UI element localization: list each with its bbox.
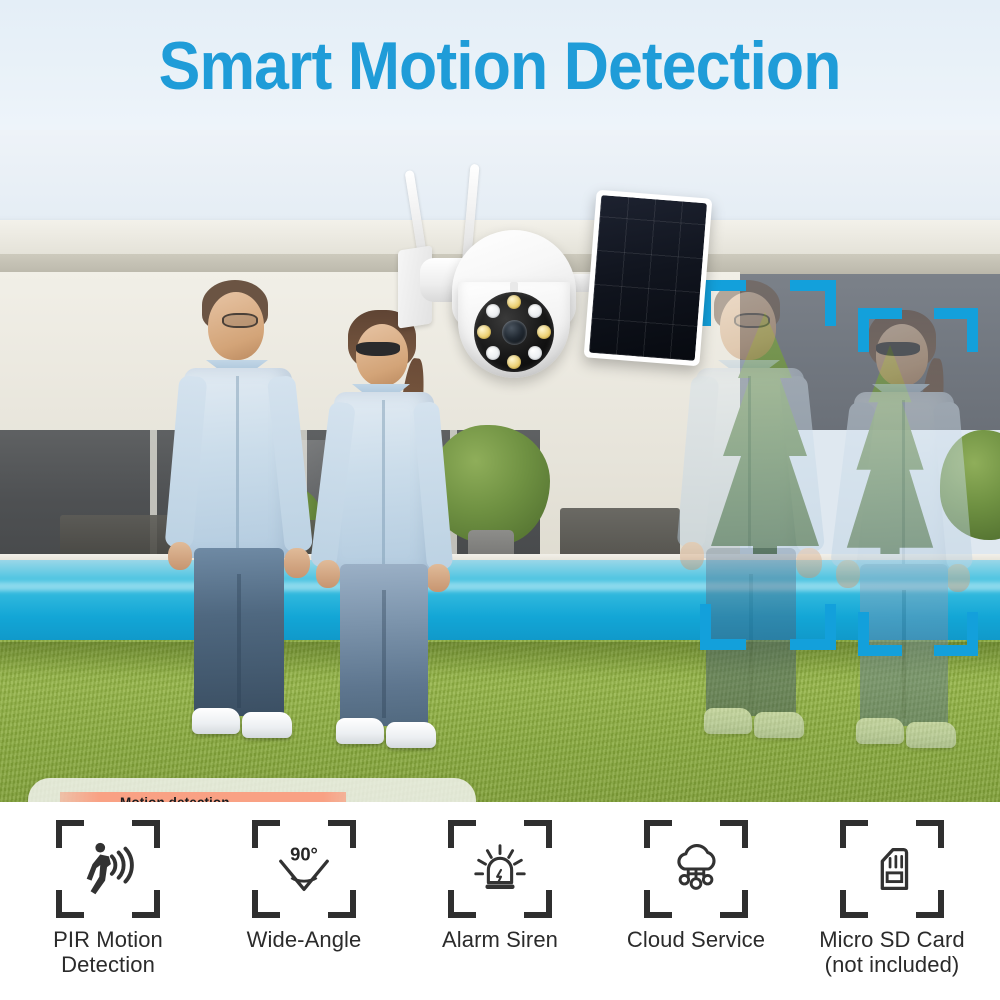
alarm-siren-icon [468, 838, 532, 900]
notification-text: Motion detection Solar Energy PTZ Camera… [120, 795, 348, 802]
icon-frame [840, 820, 944, 918]
feature-micro-sd: Micro SD Card (not included) [794, 820, 990, 977]
bracket-corner-bl [700, 604, 746, 650]
led-light [507, 295, 521, 309]
page-title: Smart Motion Detection [159, 32, 841, 100]
bracket-corner-tr [790, 280, 836, 326]
feature-wide-angle: 90° Wide-Angle [206, 820, 402, 952]
feature-cloud-service: Cloud Service [598, 820, 794, 952]
detection-bracket-woman [858, 308, 978, 656]
wide-angle-icon: 90° [272, 838, 336, 900]
bracket-corner-tr [934, 308, 978, 352]
notification-title: Motion detection [120, 795, 348, 802]
shirt-placket [382, 400, 385, 568]
feature-label: PIR Motion Detection [16, 927, 201, 977]
shoe-left [192, 708, 240, 734]
led-light [486, 304, 500, 318]
led-light [477, 325, 491, 339]
feature-label: Wide-Angle [247, 927, 362, 952]
motion-notification-card[interactable]: Motion detection Solar Energy PTZ Camera… [28, 778, 476, 802]
bracket-corner-tl [700, 280, 746, 326]
bracket-corner-tl [858, 308, 902, 352]
led-light [528, 346, 542, 360]
bracket-corner-bl [858, 612, 902, 656]
pir-motion-icon [76, 838, 140, 900]
frame-corner-bl [448, 890, 476, 918]
feature-label: Cloud Service [627, 927, 765, 952]
shoe-right [242, 712, 292, 738]
icon-frame [448, 820, 552, 918]
jeans [340, 564, 428, 726]
frame-corner-br [132, 890, 160, 918]
ptz-camera-product [390, 170, 640, 420]
hero-photo: Motion detection Solar Energy PTZ Camera… [0, 130, 1000, 802]
frame-corner-br [720, 890, 748, 918]
frame-corner-bl [840, 890, 868, 918]
frame-corner-tr [524, 820, 552, 848]
frame-corner-bl [644, 890, 672, 918]
feature-alarm-siren: Alarm Siren [402, 820, 598, 952]
detection-bracket-man [700, 280, 836, 650]
frame-corner-tr [916, 820, 944, 848]
frame-corner-br [916, 890, 944, 918]
hand-left [316, 560, 340, 588]
led-light [486, 346, 500, 360]
hand-left [168, 542, 192, 570]
page-header: Smart Motion Detection [0, 0, 1000, 132]
icon-frame [644, 820, 748, 918]
leg-split [382, 590, 386, 718]
bracket-corner-br [934, 612, 978, 656]
icon-frame [56, 820, 160, 918]
frame-corner-br [328, 890, 356, 918]
leg-split [237, 574, 241, 708]
product-feature-page: Smart Motion Detection [0, 0, 1000, 1000]
frame-corner-tl [448, 820, 476, 848]
led-light [528, 304, 542, 318]
frame-corner-br [524, 890, 552, 918]
frame-corner-tl [252, 820, 280, 848]
frame-corner-tr [132, 820, 160, 848]
solar-cells [589, 195, 707, 361]
frame-corner-tl [840, 820, 868, 848]
led-light [507, 355, 521, 369]
frame-corner-bl [56, 890, 84, 918]
wide-angle-value: 90° [290, 843, 318, 864]
camera-lens-face [474, 292, 554, 372]
frame-corner-tl [644, 820, 672, 848]
shoe-right [906, 722, 956, 748]
feature-row: PIR Motion Detection 90° Wide-Angle [0, 802, 1000, 1000]
solar-panel [584, 190, 713, 367]
hand-right [426, 564, 450, 592]
camera-indicator [510, 282, 518, 292]
shoe-left [704, 708, 752, 734]
led-light [537, 325, 551, 339]
icon-frame: 90° [252, 820, 356, 918]
eyeglasses [222, 313, 258, 328]
hand-left [836, 560, 860, 588]
frame-corner-tl [56, 820, 84, 848]
frame-corner-bl [252, 890, 280, 918]
feature-pir-motion: PIR Motion Detection [10, 820, 206, 977]
cloud-service-icon [664, 838, 728, 900]
jeans [194, 548, 284, 716]
shoe-left [336, 718, 384, 744]
shoe-right [386, 722, 436, 748]
shoe-right [754, 712, 804, 738]
feature-label: Alarm Siren [442, 927, 558, 952]
frame-corner-tr [328, 820, 356, 848]
feature-label: Micro SD Card (not included) [800, 927, 985, 977]
shoe-left [856, 718, 904, 744]
camera-lens [502, 320, 527, 345]
frame-corner-tr [720, 820, 748, 848]
shirt-placket [236, 376, 239, 552]
bracket-corner-br [790, 604, 836, 650]
micro-sd-icon [860, 838, 924, 900]
